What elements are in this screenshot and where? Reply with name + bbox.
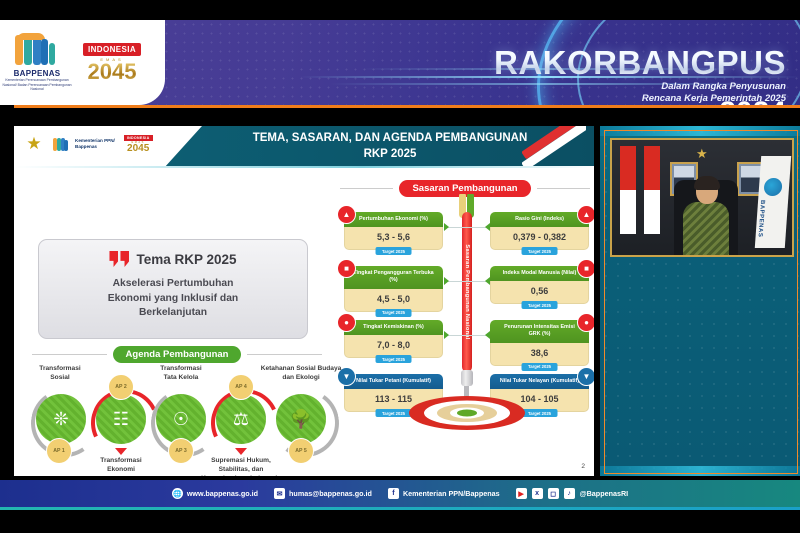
instagram-icon[interactable]: ◻ (548, 488, 559, 499)
metric-target-badge: Target 2025 (375, 355, 412, 363)
bappenas-flag-emblem-icon (763, 178, 782, 196)
indonesia-emas-year: 2045 (88, 62, 137, 83)
metric-target-badge: Target 2025 (521, 363, 558, 371)
letterbox-left (0, 105, 14, 480)
ap5-label: Ketahanan Sosial Budaya dan Ekologi (255, 364, 347, 382)
metric-target-badge: Target 2025 (375, 247, 412, 255)
slide-title-line1: TEMA, SASARAN, DAN AGENDA PEMBANGUNAN (200, 131, 580, 147)
tema-text: Akselerasi Pertumbuhan Ekonomi yang Inkl… (39, 277, 307, 321)
contact-footer: 🌐 www.bappenas.go.id ✉ humas@bappenas.go… (0, 480, 800, 507)
metric-title: Nilai Tukar Nelayan (Kumulatif) (490, 374, 589, 389)
justice-scale-icon: ⚖ (216, 394, 266, 444)
metric-title: Nilai Tukar Petani (Kumulatif) (344, 374, 443, 389)
fisherman-icon: ▼ (577, 367, 594, 386)
ap2-label: Transformasi Ekonomi (75, 456, 167, 474)
worker-icon: ■ (337, 259, 356, 278)
tema-text-line3: Berkelanjutan (39, 306, 307, 321)
slide-emas-year: 2045 (127, 144, 149, 154)
ecology-icon: 🌳 (276, 394, 326, 444)
dart-tip-cap (461, 370, 473, 386)
metric-target-badge: Target 2025 (521, 409, 558, 417)
metric-card-penurunan-emisi-grk[interactable]: ● Penurunan Intensitas Emisi GRK (%) 38,… (490, 320, 589, 366)
tema-text-line1: Akselerasi Pertumbuhan (39, 277, 307, 292)
sasaran-pill-line-right (537, 188, 590, 189)
kementerian-ppn-mark-icon (53, 137, 71, 152)
metric-target-badge: Target 2025 (521, 247, 558, 255)
letterbox-top (0, 0, 800, 20)
arrow-left-3-icon (444, 331, 449, 339)
event-title: RAKORBANGPUS (494, 46, 786, 79)
governance-icon: ☉ (156, 394, 206, 444)
ap3-label: Transformasi Tata Kelola (135, 364, 227, 382)
metric-title: Penurunan Intensitas Emisi GRK (%) (490, 320, 589, 343)
slide-page-number: 2 (581, 463, 585, 470)
poverty-icon: ● (337, 313, 356, 332)
ap1-label-line1: Transformasi (14, 364, 106, 373)
gini-icon: ▲ (577, 205, 594, 224)
presentation-slide[interactable]: TEMA, SASARAN, DAN AGENDA PEMBANGUNAN RK… (14, 126, 594, 476)
bappenas-mark-icon (15, 33, 59, 67)
metric-card-tingkat-kemiskinan[interactable]: ● Tingkat Kemiskinan (%) 7,0 - 8,0 Targe… (344, 320, 443, 358)
kementerian-ppn-label: Kementerian PPN/ Bappenas (75, 138, 115, 151)
ap1-code: AP 1 (46, 438, 72, 464)
x-twitter-icon[interactable]: x (532, 488, 543, 499)
garuda-emblem-icon: ★ (24, 134, 44, 154)
agenda-node-ap3[interactable]: ☉ AP 3 Transformasi Tata Kelola (156, 394, 206, 444)
target-bullseye (457, 410, 477, 417)
bappenas-wordmark: BAPPENAS (14, 69, 61, 78)
sasaran-grid: Sasaran Pembangunan Nasional (344, 200, 589, 430)
kementerian-ppn-logo: Kementerian PPN/ Bappenas (53, 137, 115, 152)
tiktok-icon[interactable]: ♪ (564, 488, 575, 499)
indonesia-emas-logo: INDONESIA EMAS 2045 (76, 43, 148, 83)
metric-title: Tingkat Pengangguran Terbuka (%) (344, 266, 443, 289)
speaker-avatar (684, 178, 728, 257)
footer-socials[interactable]: ▶ x ◻ ♪ @BappenasRI (516, 488, 629, 499)
ap2-arrow-icon (115, 448, 127, 455)
letterbox-bottom (0, 510, 800, 533)
tema-card-header: Tema RKP 2025 (39, 251, 307, 267)
metric-card-pertumbuhan-ekonomi[interactable]: ▲ Pertumbuhan Ekonomi (%) 5,3 - 5,6 Targ… (344, 212, 443, 250)
ap4-label-line2: Stabilitas, dan (195, 465, 287, 474)
agenda-node-ap1[interactable]: ❊ AP 1 Transformasi Sosial (36, 394, 86, 444)
ap4-arrow-icon (235, 448, 247, 455)
footer-facebook[interactable]: f Kementerian PPN/Bappenas (388, 488, 500, 499)
ministry-line2: Bappenas (75, 144, 115, 150)
quote-mark-icon (109, 251, 129, 267)
footer-facebook-label: Kementerian PPN/Bappenas (403, 489, 500, 498)
ap4-label-line3: Kepemimpinan Indonesia (195, 474, 287, 476)
metric-target-badge: Target 2025 (375, 309, 412, 317)
event-subtitle-line1: Dalam Rangka Penyusunan (494, 81, 786, 93)
video-panel[interactable]: ★ BAPPENAS (600, 126, 800, 476)
metric-card-indeks-modal-manusia[interactable]: ■ Indeks Modal Manusia (Nilai) 0,56 Targ… (490, 266, 589, 304)
speaker-hair (694, 176, 720, 190)
indonesia-emas-top: INDONESIA (83, 43, 141, 56)
banner-accent-rule (0, 105, 800, 108)
bappenas-logo: BAPPENAS Kementerian Perencanaan Pembang… (4, 33, 70, 93)
facebook-icon: f (388, 488, 399, 499)
slide-title-line2: RKP 2025 (200, 147, 580, 163)
garuda-wall-emblem-icon: ★ (696, 146, 708, 162)
dart-arrow-graphic: Sasaran Pembangunan Nasional (459, 194, 475, 404)
ap2-code: AP 2 (108, 374, 134, 400)
growth-icon: ▲ (337, 205, 356, 224)
agenda-node-row: ❊ AP 1 Transformasi Sosial ☷ AP 2 (28, 384, 328, 454)
bappenas-subtitle: Kementerian Perencanaan Pembangunan Nasi… (0, 78, 75, 93)
footer-website[interactable]: 🌐 www.bappenas.go.id (172, 488, 258, 499)
mail-icon: ✉ (274, 488, 285, 499)
metric-target-badge: Target 2025 (375, 409, 412, 417)
agenda-node-ap2[interactable]: ☷ AP 2 Transformasi Ekonomi (96, 394, 146, 444)
slide-header-logos: ★ Kementerian PPN/ Bappenas INDONESIA (24, 134, 153, 154)
ap1-label: Transformasi Sosial (14, 364, 106, 382)
screen-root: RAKORBANGPUS Dalam Rangka Penyusunan Ren… (0, 0, 800, 533)
ap3-code: AP 3 (168, 438, 194, 464)
dart-label: Sasaran Pembangunan Nasional (462, 212, 472, 372)
banner-logo-card: BAPPENAS Kementerian Perencanaan Pembang… (0, 20, 165, 105)
footer-social-handle: @BappenasRI (580, 489, 629, 498)
ap5-label-line2: dan Ekologi (255, 373, 347, 382)
tema-text-line2: Ekonomi yang Inklusif dan (39, 292, 307, 307)
ap4-label-line1: Supremasi Hukum, (195, 456, 287, 465)
emission-icon: ● (577, 313, 594, 332)
metric-title: Pertumbuhan Ekonomi (%) (344, 212, 443, 227)
speaker-video-feed[interactable]: ★ BAPPENAS (610, 138, 794, 257)
ap5-code: AP 5 (288, 438, 314, 464)
bar-chart-icon: ☷ (96, 394, 146, 444)
ap3-label-line1: Transformasi (135, 364, 227, 373)
ap1-label-line2: Sosial (14, 373, 106, 382)
agenda-diagram: ❊ AP 1 Transformasi Sosial ☷ AP 2 (28, 348, 328, 473)
ap3-label-line2: Tata Kelola (135, 373, 227, 382)
metric-title: Indeks Modal Manusia (Nilai) (490, 266, 589, 281)
sasaran-pill-line-left (340, 188, 393, 189)
metric-target-badge: Target 2025 (521, 301, 558, 309)
ap4-code: AP 4 (228, 374, 254, 400)
footer-website-label: www.bappenas.go.id (187, 489, 258, 498)
tema-card: Tema RKP 2025 Akselerasi Pertumbuhan Eko… (38, 239, 308, 339)
metric-card-rasio-gini[interactable]: ▲ Rasio Gini (Indeks) 0,379 - 0,382 Targ… (490, 212, 589, 250)
indonesia-flag-second-icon (644, 146, 660, 234)
slide-title: TEMA, SASARAN, DAN AGENDA PEMBANGUNAN RK… (200, 131, 580, 162)
footer-email-label: humas@bappenas.go.id (289, 489, 372, 498)
indonesia-flag-left-icon (620, 146, 636, 234)
human-capital-icon: ■ (577, 259, 594, 278)
agenda-node-ap5[interactable]: 🌳 AP 5 Ketahanan Sosial Budaya dan Ekolo… (276, 394, 326, 444)
arrow-left-1-icon (444, 223, 449, 231)
ap2-label-line1: Transformasi (75, 456, 167, 465)
footer-email[interactable]: ✉ humas@bappenas.go.id (274, 488, 372, 499)
bappenas-flag-text: BAPPENAS (757, 200, 766, 237)
metric-title: Tingkat Kemiskinan (%) (344, 320, 443, 335)
event-title-block: RAKORBANGPUS Dalam Rangka Penyusunan Ren… (494, 46, 786, 105)
youtube-icon[interactable]: ▶ (516, 488, 527, 499)
metric-title: Rasio Gini (Indeks) (490, 212, 589, 227)
globe-icon: 🌐 (172, 488, 183, 499)
ap5-label-line1: Ketahanan Sosial Budaya (255, 364, 347, 373)
ap4-label: Supremasi Hukum, Stabilitas, dan Kepemim… (195, 456, 287, 476)
slide-body: Tema RKP 2025 Akselerasi Pertumbuhan Eko… (14, 168, 594, 476)
target-board-graphic (409, 396, 525, 430)
slide-indonesia-emas-logo: INDONESIA EMAS 2045 (124, 135, 153, 154)
metric-card-tingkat-pengangguran[interactable]: ■ Tingkat Pengangguran Terbuka (%) 4,5 -… (344, 266, 443, 312)
speaker-batik-shirt (683, 202, 729, 257)
slide-header: TEMA, SASARAN, DAN AGENDA PEMBANGUNAN RK… (14, 126, 594, 168)
arrow-left-2-icon (444, 277, 449, 285)
tema-title: Tema RKP 2025 (136, 252, 236, 267)
ap2-label-line2: Ekonomi (75, 465, 167, 474)
social-network-icon: ❊ (36, 394, 86, 444)
agenda-node-ap4[interactable]: ⚖ AP 4 Supremasi Hukum, Stabilitas, dan … (216, 394, 266, 444)
